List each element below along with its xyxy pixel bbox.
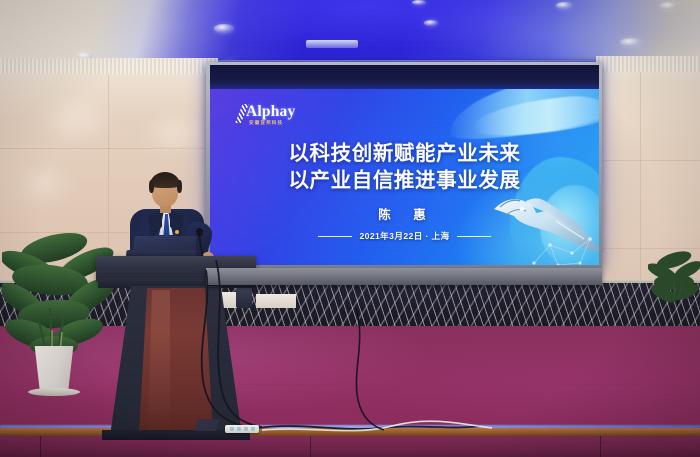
conference-photo-scene: Alphay 安徽亚邦科技 以科技创新赋能产业未来 以产业自信推进事业发展 陈 … <box>0 0 700 457</box>
dateline-rule-left <box>318 236 352 237</box>
wall-light-reflection <box>140 112 210 154</box>
ceiling-downlight <box>412 0 426 5</box>
dateline-rule-right <box>457 236 491 237</box>
led-screen: Alphay 安徽亚邦科技 以科技创新赋能产业未来 以产业自信推进事业发展 陈 … <box>210 65 599 265</box>
power-socket <box>230 427 234 431</box>
slide-text-block: 以科技创新赋能产业未来 以产业自信推进事业发展 陈 惠 2021年3月22日 ·… <box>210 141 599 242</box>
wall-crown-right <box>596 56 700 72</box>
ceiling-downlight <box>214 24 234 33</box>
logo-subtitle: 安徽亚邦科技 <box>249 120 283 126</box>
cable-group <box>0 250 700 450</box>
presenter-hair-side <box>177 180 182 193</box>
wall-light-reflection <box>14 166 74 200</box>
power-socket <box>244 427 248 431</box>
power-socket <box>251 427 255 431</box>
floor-cable-mat <box>194 419 220 431</box>
presenter-lapel-pin <box>175 230 179 234</box>
power-socket <box>237 427 241 431</box>
microphone-head-icon <box>196 228 203 236</box>
ceiling-downlight <box>556 2 572 9</box>
ceiling-air-slot <box>306 40 358 48</box>
slide-logo: Alphay 安徽亚邦科技 <box>232 103 324 129</box>
slide-date-location: 2021年3月22日 · 上海 <box>359 230 449 242</box>
ceiling-downlight <box>424 20 438 26</box>
power-strip <box>225 425 259 433</box>
slide-speaker-name: 陈 惠 <box>210 204 599 223</box>
ceiling-downlight <box>620 38 642 47</box>
logo-wordmark: Alphay <box>246 103 295 121</box>
led-screen-frame: Alphay 安徽亚邦科技 以科技创新赋能产业未来 以产业自信推进事业发展 陈 … <box>206 62 602 268</box>
slide-dateline: 2021年3月22日 · 上海 <box>210 230 599 242</box>
wall-crown-left <box>0 58 218 74</box>
presenter-hair <box>150 172 180 188</box>
ceiling-downlight <box>660 2 678 10</box>
slide-title-line-2: 以产业自信推进事业发展 <box>210 168 599 195</box>
wall-tile-seam <box>596 160 700 161</box>
wall-light-reflection <box>38 96 116 142</box>
presenter-hair-side <box>149 180 154 193</box>
screen-top-dark-band <box>210 65 599 89</box>
slide-title-line-1: 以科技创新赋能产业未来 <box>210 141 599 168</box>
